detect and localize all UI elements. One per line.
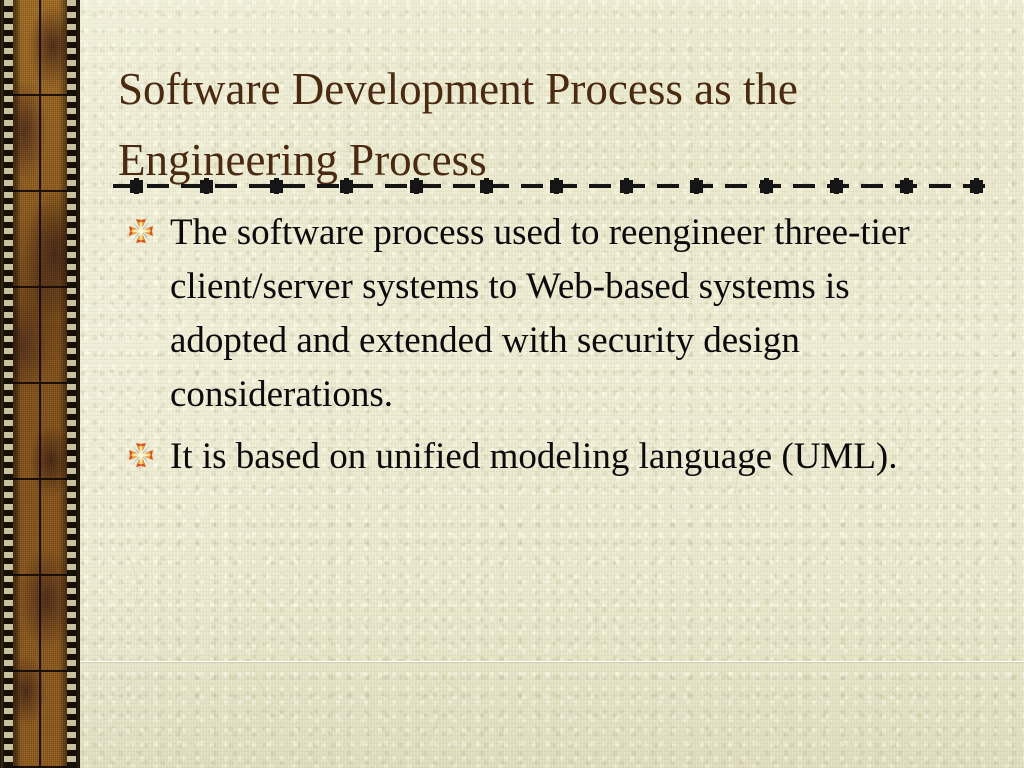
title-divider [113, 178, 993, 194]
slide-canvas: Software Development Process as the Engi… [0, 0, 1024, 768]
list-item-text: The software process used to reengineer … [170, 206, 950, 422]
divider-square-dots [113, 178, 993, 194]
list-item-text: It is based on unified modeling language… [170, 430, 950, 484]
list-item: It is based on unified modeling language… [128, 430, 1008, 484]
sidebar-right-edge [76, 0, 80, 768]
slide-body: The software process used to reengineer … [128, 206, 1008, 492]
sidebar-edge-shadow [13, 0, 67, 768]
bottom-divider-rule [80, 661, 1024, 663]
decorative-sidebar-filmstrip [0, 0, 80, 768]
sidebar-texture-panel [13, 0, 67, 768]
slide-title: Software Development Process as the Engi… [118, 54, 998, 196]
starburst-bullet-icon [128, 442, 154, 468]
sidebar-sprocket-rail-right [67, 0, 76, 768]
starburst-bullet-icon [128, 218, 154, 244]
sidebar-sprocket-rail-left [4, 0, 13, 768]
list-item: The software process used to reengineer … [128, 206, 1008, 422]
